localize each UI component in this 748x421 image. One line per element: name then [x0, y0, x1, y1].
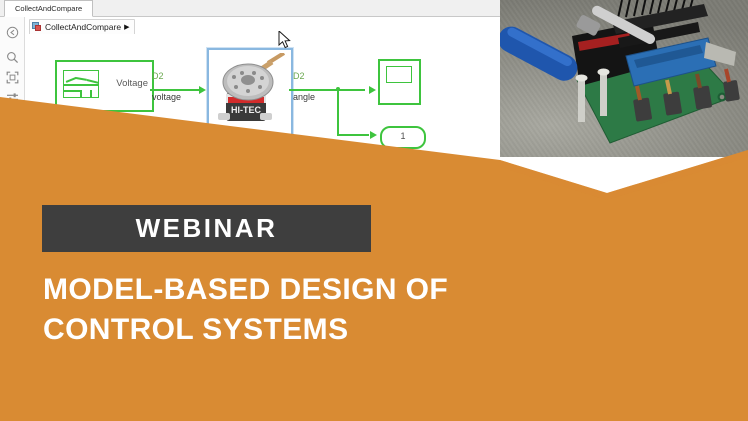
signal-name-angle: angle [293, 92, 315, 102]
signal-label-d2-angle: D2 [293, 71, 305, 81]
title-line-2: CONTROL SYSTEMS [43, 310, 663, 350]
page-title: MODEL-BASED DESIGN OF CONTROL SYSTEMS [43, 270, 663, 350]
signal-name-voltage: voltage [152, 92, 181, 102]
model-canvas[interactable]: Voltage Signal Builder D2 voltage [25, 34, 500, 200]
wire-servo-to-scope [289, 89, 365, 91]
hardware-photo [500, 0, 748, 157]
wire-branch-vertical [337, 89, 339, 136]
scope-icon [386, 66, 412, 83]
model-file-icon [32, 22, 42, 32]
wire-arrow-icon [199, 86, 206, 94]
navigate-back-icon[interactable] [4, 24, 20, 40]
title-line-1: MODEL-BASED DESIGN OF [43, 273, 448, 306]
canvas-toolbar [0, 17, 25, 200]
wire-arrow-icon [369, 86, 376, 94]
block-servo-motor[interactable]: HI-TEC [207, 48, 293, 136]
simulink-window: CollectAndCompare CollectAndCompare ▶ [0, 0, 748, 200]
chevron-right-icon[interactable]: ▶ [124, 23, 129, 31]
tab-collectandcompare[interactable]: CollectAndCompare [4, 0, 93, 17]
fit-to-view-icon[interactable] [4, 69, 20, 85]
servo-motor-photo: HI-TEC [212, 53, 288, 131]
wire-arrow-icon [370, 131, 377, 139]
block-voltage-label: Voltage [116, 78, 148, 89]
wire-branch-to-out [337, 134, 369, 136]
breadcrumb-label: CollectAndCompare [45, 22, 121, 32]
webinar-title-card: CollectAndCompare CollectAndCompare ▶ [0, 0, 748, 421]
block-voltage-sublabel: Signal Builder [73, 112, 129, 122]
webinar-badge-label: WEBINAR [136, 213, 278, 244]
breadcrumb[interactable]: CollectAndCompare ▶ [29, 19, 135, 35]
block-voltage[interactable]: Voltage [55, 60, 154, 112]
button-download-logged-data[interactable]: Download Logged Data to WS [29, 170, 174, 187]
signal-builder-icon [63, 70, 99, 98]
signal-label-d2-voltage: D2 [152, 71, 164, 81]
button-fit-vs-measured-data[interactable]: Fit vs Measured Data [215, 170, 335, 187]
wire-voltage-to-servo [150, 89, 200, 91]
block-out1-label: Out1 [385, 146, 405, 156]
sliders-icon[interactable] [4, 89, 20, 105]
mouse-pointer [278, 31, 292, 49]
block-scope[interactable] [378, 59, 421, 105]
webinar-badge: WEBINAR [42, 205, 371, 252]
zoom-icon[interactable] [4, 49, 20, 65]
svg-text:HI-TEC: HI-TEC [231, 105, 261, 115]
